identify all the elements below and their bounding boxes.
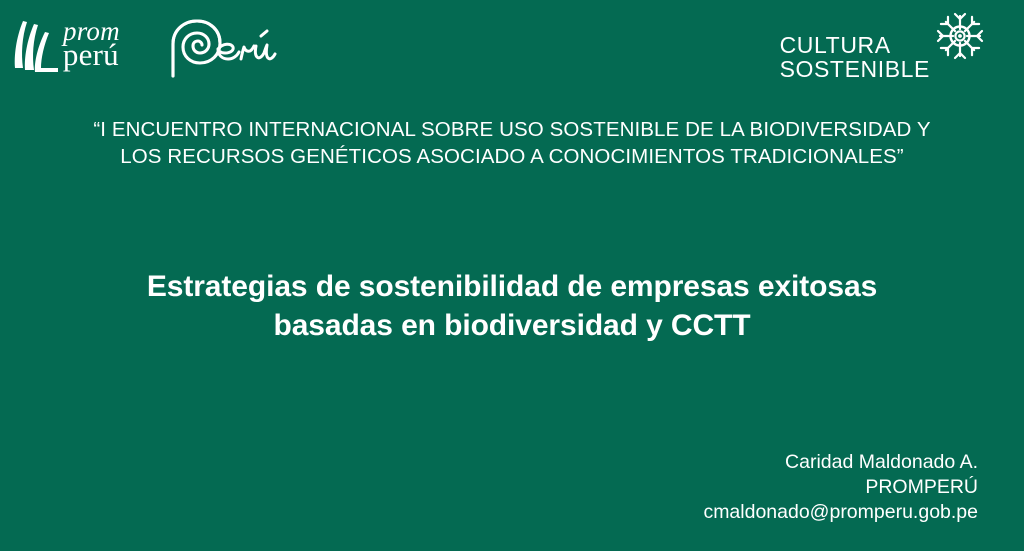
event-title: “I ENCUENTRO INTERNACIONAL SOBRE USO SOS… <box>32 116 992 170</box>
presentation-slide: prom perú CULTURA <box>0 0 1024 551</box>
main-title-line-1: Estrategias de sostenibilidad de empresa… <box>62 267 962 306</box>
page-title: Estrategias de sostenibilidad de empresa… <box>62 267 962 346</box>
event-title-line-2: LOS RECURSOS GENÉTICOS ASOCIADO A CONOCI… <box>32 143 992 170</box>
main-title-line-2: basadas en biodiversidad y CCTT <box>62 306 962 345</box>
logo-bar: prom perú CULTURA <box>0 0 1024 100</box>
radial-sun-eye-icon <box>934 10 986 62</box>
spiral-p-icon <box>173 21 220 76</box>
promperu-word-peru: perú <box>62 41 120 70</box>
peru-wordmark-script <box>218 31 275 59</box>
author-organization: PROMPERÚ <box>703 475 978 500</box>
promperu-wordmark: prom perú <box>62 19 120 69</box>
author-name: Caridad Maldonado A. <box>703 450 978 475</box>
author-email: cmaldonado@promperu.gob.pe <box>703 500 978 525</box>
cultura-line: CULTURA <box>780 34 930 58</box>
event-title-line-1: “I ENCUENTRO INTERNACIONAL SOBRE USO SOS… <box>32 116 992 143</box>
cultura-sostenible-logo: CULTURA SOSTENIBLE <box>780 28 986 81</box>
sostenible-line: SOSTENIBLE <box>780 58 930 82</box>
promperu-logo: prom perú <box>14 18 120 76</box>
cultura-sostenible-wordmark: CULTURA SOSTENIBLE <box>780 28 930 81</box>
author-block: Caridad Maldonado A. PROMPERÚ cmaldonado… <box>703 450 978 525</box>
peru-country-brand-logo <box>163 18 281 80</box>
sail-swoosh-icon <box>14 18 60 76</box>
